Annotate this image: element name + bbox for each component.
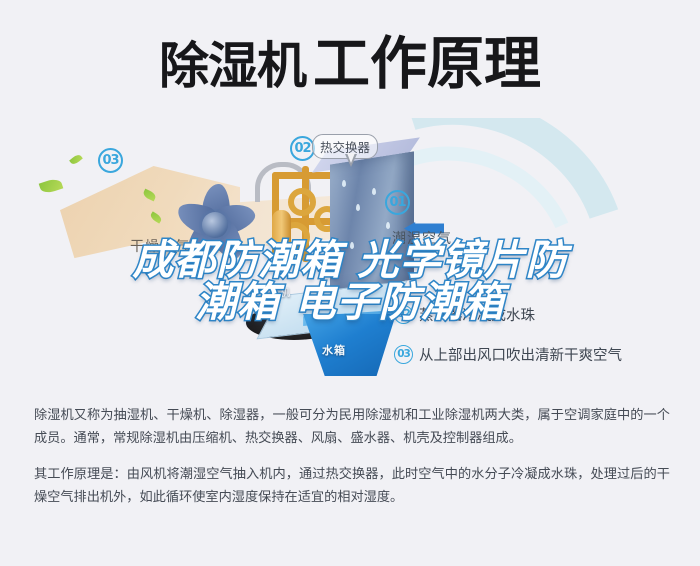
water-tank-caption: 水箱 [322,342,346,358]
coil-ring [288,188,316,216]
page-title-primary: 除湿机 [159,37,306,95]
step-marker-01-label: 01 [385,190,410,215]
step-marker-01: 01 [385,190,410,215]
receiver-cylinder [272,210,291,254]
humid-air-label: 潮湿空气 [392,228,452,248]
description-paragraph-1: 除湿机又称为抽湿机、干燥机、除湿器，一般可分为民用除湿机和工业除湿机两大类，属于… [34,404,670,450]
leaf-icon [69,153,83,166]
process-step-03: 03 从上部出风口吹出清新干爽空气 [394,344,622,365]
heat-exchanger-callout: 热交换器 [312,134,378,159]
dehumidifier-diagram: 03 01 02 热交换器 干燥空气 潮湿空气 压缩机 水箱 02 蒸发器冷凝成… [0,118,700,398]
page-title-secondary: 工作原理 [313,31,541,97]
fan-illustration [168,178,262,270]
dry-air-label: 干燥空气 [130,236,190,256]
process-step-03-text: 从上部出风口吹出清新干爽空气 [419,344,622,365]
condensate-droplet [378,258,382,265]
process-step-03-number: 03 [394,345,413,364]
fan-hub [202,212,228,238]
coil-pipe [272,172,334,179]
process-step-02: 02 蒸发器冷凝成水珠 [394,304,535,325]
leaf-icon [39,177,64,195]
condensate-droplet [342,180,346,187]
process-step-02-number: 02 [394,305,413,324]
condensate-droplet [372,188,376,195]
page-title: 除湿机工作原理 [159,18,541,100]
page-title-bar: 除湿机工作原理 [0,0,700,118]
compressor-caption: 压缩机 [258,284,291,299]
step-marker-03-label: 03 [98,148,123,173]
description-paragraph-2: 其工作原理是：由风机将潮湿空气抽入机内，通过热交换器，此时空气中的水分子冷凝成水… [34,463,670,509]
step-marker-03: 03 [98,148,123,173]
description-text: 除湿机又称为抽湿机、干燥机、除湿器，一般可分为民用除湿机和工业除湿机两大类，属于… [34,404,670,509]
condensate-droplet [356,204,360,211]
condensate-droplet [350,242,354,249]
process-step-02-text: 蒸发器冷凝成水珠 [419,304,535,325]
evaporator-fin-stack [330,151,414,292]
callout-pointer [345,154,357,167]
condensate-droplet [386,222,390,229]
